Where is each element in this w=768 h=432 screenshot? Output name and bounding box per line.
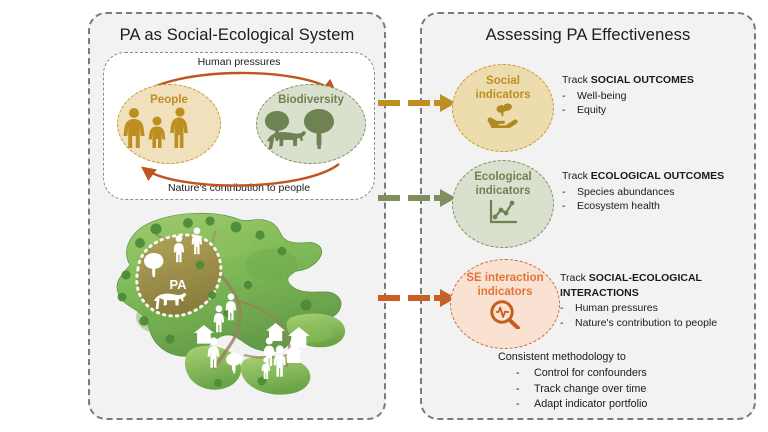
bullet-text: Adapt indicator portfolio (534, 398, 647, 410)
bullet-text: Well-being (577, 90, 626, 102)
tree-icon (304, 109, 334, 149)
bullet-dash: - (516, 382, 520, 398)
track-bullets-se: -Human pressures -Nature's contribution … (560, 301, 756, 330)
hand-with-sprout-icon (485, 102, 521, 128)
track-heading-ecological: Track ECOLOGICAL OUTCOMES (562, 170, 754, 184)
bullet-dash: - (562, 89, 566, 104)
list-item: -Ecosystem health (562, 199, 754, 214)
people-icon (118, 107, 196, 149)
list-item: -Equity (562, 103, 752, 118)
node-biodiversity-label: Biodiversity (257, 94, 365, 106)
bullet-dash: - (560, 316, 564, 331)
methodology-bullets: -Control for confounders -Track change o… (498, 366, 738, 413)
list-item: -Adapt indicator portfolio (498, 397, 738, 413)
track-prefix-se: Track (560, 272, 589, 284)
bullet-text: Equity (577, 104, 606, 116)
connector-arrow-se-interaction (378, 287, 458, 309)
track-heading-social: Track SOCIAL OUTCOMES (562, 74, 752, 88)
track-strong-se-line2: INTERACTIONS (560, 287, 756, 301)
indicator-social[interactable]: Social indicators (452, 64, 554, 152)
indicator-ecological-line2: indicators (453, 184, 553, 198)
node-people-label: People (118, 94, 220, 106)
track-block-ecological: Track ECOLOGICAL OUTCOMES -Species abund… (562, 170, 754, 214)
node-people: People (117, 84, 221, 164)
pa-island-illustration: PA (96, 205, 384, 405)
list-item: -Nature's contribution to people (560, 316, 756, 331)
bullet-text: Track change over time (534, 383, 646, 395)
bullet-text: Control for confounders (534, 367, 647, 379)
track-bullets-ecological: -Species abundances -Ecosystem health (562, 185, 754, 214)
bullet-text: Ecosystem health (577, 200, 660, 212)
diagram-canvas: PA as Social-Ecological System Human pre… (0, 0, 768, 432)
track-strong-ecological: ECOLOGICAL OUTCOMES (591, 170, 724, 182)
connector-arrow-ecological (378, 187, 458, 209)
indicator-se-line2: indicators (451, 285, 559, 299)
indicator-social-line2: indicators (453, 88, 553, 102)
track-heading-se: Track SOCIAL-ECOLOGICAL (560, 272, 756, 286)
bullet-text: Species abundances (577, 186, 675, 198)
list-item: -Well-being (562, 89, 752, 104)
list-item: -Track change over time (498, 382, 738, 398)
indicator-ecological[interactable]: Ecological indicators (452, 160, 554, 248)
track-prefix-social: Track (562, 74, 591, 86)
bullet-dash: - (516, 397, 520, 413)
bullet-dash: - (516, 366, 520, 382)
indicator-ecological-line1: Ecological (453, 161, 553, 184)
indicator-se-interaction[interactable]: SE interaction indicators (450, 259, 560, 349)
node-biodiversity: Biodiversity (256, 84, 366, 164)
track-block-social: Track SOCIAL OUTCOMES -Well-being -Equit… (562, 74, 752, 118)
indicator-se-line1: SE interaction (451, 260, 559, 285)
list-item: -Species abundances (562, 185, 754, 200)
left-panel-title: PA as Social-Ecological System (88, 26, 386, 45)
bullet-dash: - (562, 185, 566, 200)
track-block-se-interaction: Track SOCIAL-ECOLOGICAL INTERACTIONS -Hu… (560, 272, 756, 330)
indicator-social-line1: Social (453, 65, 553, 88)
methodology-block: Consistent methodology to -Control for c… (498, 350, 738, 413)
biodiversity-icon (257, 107, 343, 153)
list-item: -Human pressures (560, 301, 756, 316)
pa-label: PA (169, 277, 187, 292)
right-panel-title: Assessing PA Effectiveness (420, 26, 756, 45)
list-item: -Control for confounders (498, 366, 738, 382)
bullet-text: Human pressures (575, 302, 658, 314)
track-bullets-social: -Well-being -Equity (562, 89, 752, 118)
methodology-heading: Consistent methodology to (498, 350, 738, 365)
magnifier-pulse-icon (488, 299, 522, 329)
track-strong-se: SOCIAL-ECOLOGICAL (589, 272, 702, 284)
bullet-dash: - (562, 199, 566, 214)
bullet-dash: - (560, 301, 564, 316)
track-strong-social: SOCIAL OUTCOMES (591, 74, 694, 86)
connector-arrow-social (378, 92, 458, 114)
bullet-dash: - (562, 103, 566, 118)
rhino-icon (267, 131, 306, 149)
track-prefix-ecological: Track (562, 170, 591, 182)
line-chart-icon (487, 198, 519, 226)
bullet-text: Nature's contribution to people (575, 317, 717, 329)
